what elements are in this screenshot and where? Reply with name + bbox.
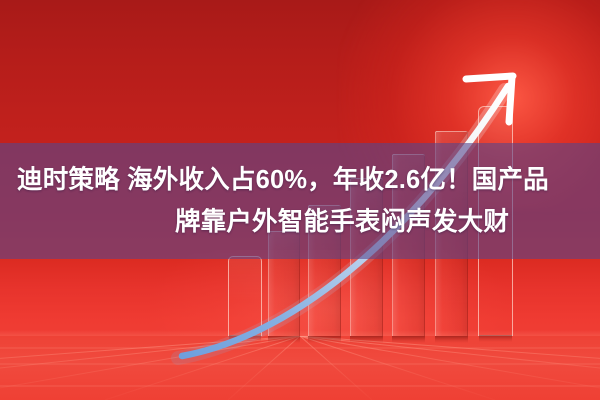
banner-image: 迪时策略 海外收入占60%，年收2.6亿！国产品 牌靠户外智能手表闷声发大财 [0, 0, 600, 400]
bar-1 [228, 256, 262, 336]
headline-block: 迪时策略 海外收入占60%，年收2.6亿！国产品 牌靠户外智能手表闷声发大财 [0, 143, 600, 259]
headline-line-1: 迪时策略 海外收入占60%，年收2.6亿！国产品 [0, 159, 600, 201]
headline-line-2: 牌靠户外智能手表闷声发大财 [0, 201, 600, 243]
